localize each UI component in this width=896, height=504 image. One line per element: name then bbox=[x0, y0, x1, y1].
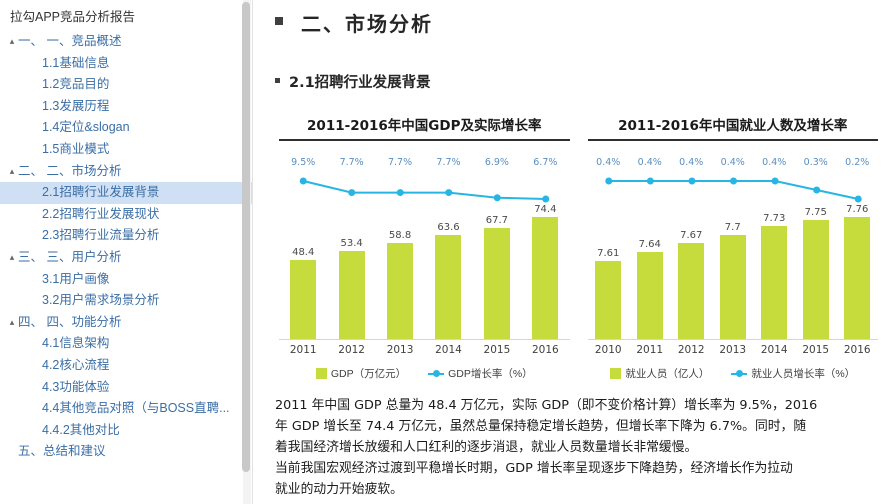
bar-column: 63.6 bbox=[424, 147, 472, 339]
percent-label: 0.3% bbox=[795, 157, 837, 168]
toc-item-19[interactable]: 五、总结和建议 bbox=[0, 441, 252, 463]
toc-item-label: 4.1信息架构 bbox=[42, 333, 109, 355]
bar-column: 74.4 bbox=[521, 147, 569, 339]
bar bbox=[387, 243, 413, 339]
bar-column: 67.7 bbox=[473, 147, 521, 339]
toc-item-label: 3.2用户需求场景分析 bbox=[42, 290, 159, 312]
bar-value-label: 67.7 bbox=[486, 215, 508, 226]
charts-row: 2011-2016年中国GDP及实际增长率 48.453.458.863.667… bbox=[275, 110, 882, 381]
section-heading-2-label: 2.1招聘行业发展背景 bbox=[289, 75, 431, 91]
x-axis-label: 2011 bbox=[629, 344, 671, 356]
chart-gdp-bars: 48.453.458.863.667.774.4 bbox=[275, 147, 574, 339]
toc-item-label: 4.4.2其他对比 bbox=[42, 420, 120, 442]
bar bbox=[435, 235, 461, 339]
toc-item-label: 4.3功能体验 bbox=[42, 377, 109, 399]
bar bbox=[484, 228, 510, 339]
x-axis-label: 2016 bbox=[837, 344, 879, 356]
toc-item-9[interactable]: 2.3招聘行业流量分析 bbox=[0, 225, 252, 247]
x-axis-label: 2015 bbox=[473, 344, 521, 356]
x-axis-label: 2012 bbox=[671, 344, 713, 356]
percent-label: 0.4% bbox=[712, 157, 754, 168]
bar-value-label: 74.4 bbox=[534, 204, 556, 215]
percent-label: 6.9% bbox=[473, 157, 521, 168]
bar bbox=[720, 235, 746, 339]
bar bbox=[803, 220, 829, 339]
legend-label: GDP增长率（%） bbox=[448, 366, 533, 381]
toc-item-2[interactable]: 1.2竞品目的 bbox=[0, 74, 252, 96]
bar-value-label: 7.61 bbox=[597, 248, 619, 259]
toc-item-label: 2.3招聘行业流量分析 bbox=[42, 225, 159, 247]
toc-item-8[interactable]: 2.2招聘行业发展现状 bbox=[0, 204, 252, 226]
toc-item-18[interactable]: 4.4.2其他对比 bbox=[0, 420, 252, 442]
percent-label: 0.4% bbox=[588, 157, 630, 168]
x-axis-label: 2016 bbox=[521, 344, 569, 356]
percent-label: 0.4% bbox=[754, 157, 796, 168]
paragraph-line: 年 GDP 增长至 74.4 万亿元，虽然总量保持稳定增长趋势，但增长率下降为 … bbox=[275, 416, 882, 437]
chart-gdp-xlabels: 201120122013201420152016 bbox=[275, 340, 574, 356]
sidebar-scrollbar-track[interactable] bbox=[243, 0, 251, 504]
chart-employment-bars: 7.617.647.677.77.737.757.76 bbox=[584, 147, 883, 339]
toc-list: ▴一、 一、竞品概述1.1基础信息1.2竞品目的1.3发展历程1.4定位&slo… bbox=[0, 31, 252, 463]
bar-value-label: 48.4 bbox=[292, 247, 314, 258]
toc-item-label: 1.4定位&slogan bbox=[42, 117, 130, 139]
bar bbox=[678, 243, 704, 339]
toc-item-10[interactable]: ▴三、 三、用户分析 bbox=[0, 247, 252, 269]
caret-collapse-icon[interactable]: ▴ bbox=[6, 31, 18, 53]
toc-item-label: 4.2核心流程 bbox=[42, 355, 109, 377]
section-heading-2: 2.1招聘行业发展背景 bbox=[275, 71, 882, 92]
chart-employment: 2011-2016年中国就业人数及增长率 7.617.647.677.77.73… bbox=[584, 110, 883, 381]
toc-item-label: 四、 四、功能分析 bbox=[18, 312, 121, 334]
x-axis-label: 2014 bbox=[754, 344, 796, 356]
legend-line-swatch-icon bbox=[731, 373, 747, 375]
percent-label: 0.4% bbox=[629, 157, 671, 168]
bar bbox=[532, 217, 558, 339]
toc-item-5[interactable]: 1.5商业模式 bbox=[0, 139, 252, 161]
bar bbox=[637, 252, 663, 339]
bar-value-label: 58.8 bbox=[389, 230, 411, 241]
bar-column: 7.73 bbox=[754, 147, 796, 339]
bar bbox=[844, 217, 870, 339]
percent-label: 6.7% bbox=[521, 157, 569, 168]
legend-label: 就业人员（亿人） bbox=[625, 366, 709, 381]
bar bbox=[761, 226, 787, 339]
caret-collapse-icon[interactable]: ▴ bbox=[6, 247, 18, 269]
x-axis-label: 2014 bbox=[424, 344, 472, 356]
toc-item-label: 2.2招聘行业发展现状 bbox=[42, 204, 159, 226]
toc-item-label: 3.1用户画像 bbox=[42, 269, 109, 291]
bar-column: 48.4 bbox=[279, 147, 327, 339]
x-axis-label: 2012 bbox=[327, 344, 375, 356]
chart-gdp-title: 2011-2016年中国GDP及实际增长率 bbox=[279, 114, 570, 141]
document-content: 二、市场分析 2.1招聘行业发展背景 2011-2016年中国GDP及实际增长率… bbox=[253, 0, 896, 504]
legend-item: GDP（万亿元） bbox=[316, 366, 406, 381]
bar-value-label: 63.6 bbox=[437, 222, 459, 233]
legend-label: 就业人员增长率（%） bbox=[751, 366, 855, 381]
chart-employment-percent-labels: 0.4%0.4%0.4%0.4%0.4%0.3%0.2% bbox=[584, 157, 883, 168]
caret-collapse-icon[interactable]: ▴ bbox=[6, 312, 18, 334]
bar-value-label: 53.4 bbox=[341, 238, 363, 249]
document-title: 拉勾APP竞品分析报告 bbox=[0, 0, 252, 31]
percent-label: 7.7% bbox=[424, 157, 472, 168]
bar-column: 53.4 bbox=[327, 147, 375, 339]
bar-column: 7.67 bbox=[671, 147, 713, 339]
toc-item-label: 1.5商业模式 bbox=[42, 139, 109, 161]
chart-gdp: 2011-2016年中国GDP及实际增长率 48.453.458.863.667… bbox=[275, 110, 574, 381]
toc-item-label: 1.1基础信息 bbox=[42, 53, 109, 75]
toc-item-label: 一、 一、竞品概述 bbox=[18, 31, 121, 53]
bar-value-label: 7.64 bbox=[639, 239, 661, 250]
sidebar-scrollbar-thumb[interactable] bbox=[242, 2, 250, 472]
legend-label: GDP（万亿元） bbox=[331, 366, 406, 381]
body-paragraph: 2011 年中国 GDP 总量为 48.4 万亿元，实际 GDP（即不变价格计算… bbox=[275, 395, 882, 500]
toc-item-label: 4.4其他竞品对照（与BOSS直聘... bbox=[42, 398, 230, 420]
toc-item-17[interactable]: 4.4其他竞品对照（与BOSS直聘... bbox=[0, 398, 252, 420]
toc-item-label: 1.3发展历程 bbox=[42, 96, 109, 118]
bar-column: 7.75 bbox=[795, 147, 837, 339]
legend-bar-swatch-icon bbox=[316, 368, 327, 379]
toc-item-7[interactable]: 2.1招聘行业发展背景 bbox=[0, 182, 252, 204]
x-axis-label: 2010 bbox=[588, 344, 630, 356]
legend-item: GDP增长率（%） bbox=[428, 366, 533, 381]
chart-gdp-legend: GDP（万亿元）GDP增长率（%） bbox=[275, 366, 574, 381]
toc-item-15[interactable]: 4.2核心流程 bbox=[0, 355, 252, 377]
section-heading-1-label: 二、市场分析 bbox=[301, 12, 433, 36]
toc-item-1[interactable]: 1.1基础信息 bbox=[0, 53, 252, 75]
bar-column: 7.64 bbox=[629, 147, 671, 339]
percent-label: 9.5% bbox=[279, 157, 327, 168]
toc-item-13[interactable]: ▴四、 四、功能分析 bbox=[0, 312, 252, 334]
x-axis-label: 2011 bbox=[279, 344, 327, 356]
paragraph-line: 2011 年中国 GDP 总量为 48.4 万亿元，实际 GDP（即不变价格计算… bbox=[275, 395, 882, 416]
toc-item-label: 2.1招聘行业发展背景 bbox=[42, 182, 159, 204]
bar-value-label: 7.67 bbox=[680, 230, 702, 241]
legend-item: 就业人员增长率（%） bbox=[731, 366, 855, 381]
toc-item-3[interactable]: 1.3发展历程 bbox=[0, 96, 252, 118]
bar-column: 7.61 bbox=[588, 147, 630, 339]
percent-label: 7.7% bbox=[327, 157, 375, 168]
bar-column: 7.7 bbox=[712, 147, 754, 339]
toc-item-12[interactable]: 3.2用户需求场景分析 bbox=[0, 290, 252, 312]
caret-collapse-icon[interactable]: ▴ bbox=[6, 161, 18, 183]
percent-label: 7.7% bbox=[376, 157, 424, 168]
document-viewer: 拉勾APP竞品分析报告 ▴一、 一、竞品概述1.1基础信息1.2竞品目的1.3发… bbox=[0, 0, 896, 504]
toc-item-6[interactable]: ▴二、 二、市场分析 bbox=[0, 161, 252, 183]
chart-employment-title: 2011-2016年中国就业人数及增长率 bbox=[588, 114, 879, 141]
toc-item-0[interactable]: ▴一、 一、竞品概述 bbox=[0, 31, 252, 53]
toc-item-16[interactable]: 4.3功能体验 bbox=[0, 377, 252, 399]
paragraph-line: 当前我国宏观经济过渡到平稳增长时期，GDP 增长率呈现逐步下降趋势，经济增长作为… bbox=[275, 458, 882, 479]
legend-line-swatch-icon bbox=[428, 373, 444, 375]
chart-employment-legend: 就业人员（亿人）就业人员增长率（%） bbox=[584, 366, 883, 381]
x-axis-label: 2013 bbox=[712, 344, 754, 356]
toc-item-label: 五、总结和建议 bbox=[18, 441, 106, 463]
chart-employment-xlabels: 2010201120122013201420152016 bbox=[584, 340, 883, 356]
toc-item-label: 二、 二、市场分析 bbox=[18, 161, 121, 183]
chart-gdp-percent-labels: 9.5%7.7%7.7%7.7%6.9%6.7% bbox=[275, 157, 574, 168]
percent-label: 0.2% bbox=[837, 157, 879, 168]
x-axis-label: 2013 bbox=[376, 344, 424, 356]
toc-item-11[interactable]: 3.1用户画像 bbox=[0, 269, 252, 291]
bar bbox=[595, 261, 621, 339]
bar bbox=[290, 260, 316, 339]
toc-item-label: 1.2竞品目的 bbox=[42, 74, 109, 96]
bar-value-label: 7.75 bbox=[805, 207, 827, 218]
chart-gdp-plot: 48.453.458.863.667.774.49.5%7.7%7.7%7.7%… bbox=[275, 147, 574, 339]
square-bullet-small-icon bbox=[275, 78, 280, 83]
chart-employment-plot: 7.617.647.677.77.737.757.760.4%0.4%0.4%0… bbox=[584, 147, 883, 339]
bar-value-label: 7.73 bbox=[763, 213, 785, 224]
x-axis-label: 2015 bbox=[795, 344, 837, 356]
legend-bar-swatch-icon bbox=[610, 368, 621, 379]
toc-item-label: 三、 三、用户分析 bbox=[18, 247, 121, 269]
legend-item: 就业人员（亿人） bbox=[610, 366, 709, 381]
bar-value-label: 7.76 bbox=[846, 204, 868, 215]
bar-column: 7.76 bbox=[837, 147, 879, 339]
square-bullet-icon bbox=[275, 17, 283, 25]
paragraph-line: 着我国经济增长放缓和人口红利的逐步消退，就业人员数量增长非常缓慢。 bbox=[275, 437, 882, 458]
toc-sidebar: 拉勾APP竞品分析报告 ▴一、 一、竞品概述1.1基础信息1.2竞品目的1.3发… bbox=[0, 0, 253, 504]
bar-value-label: 7.7 bbox=[725, 222, 741, 233]
section-heading-1: 二、市场分析 bbox=[275, 8, 882, 37]
bar-column: 58.8 bbox=[376, 147, 424, 339]
toc-item-14[interactable]: 4.1信息架构 bbox=[0, 333, 252, 355]
bar bbox=[339, 251, 365, 339]
percent-label: 0.4% bbox=[671, 157, 713, 168]
toc-item-4[interactable]: 1.4定位&slogan bbox=[0, 117, 252, 139]
paragraph-line: 就业的动力开始疲软。 bbox=[275, 479, 882, 500]
